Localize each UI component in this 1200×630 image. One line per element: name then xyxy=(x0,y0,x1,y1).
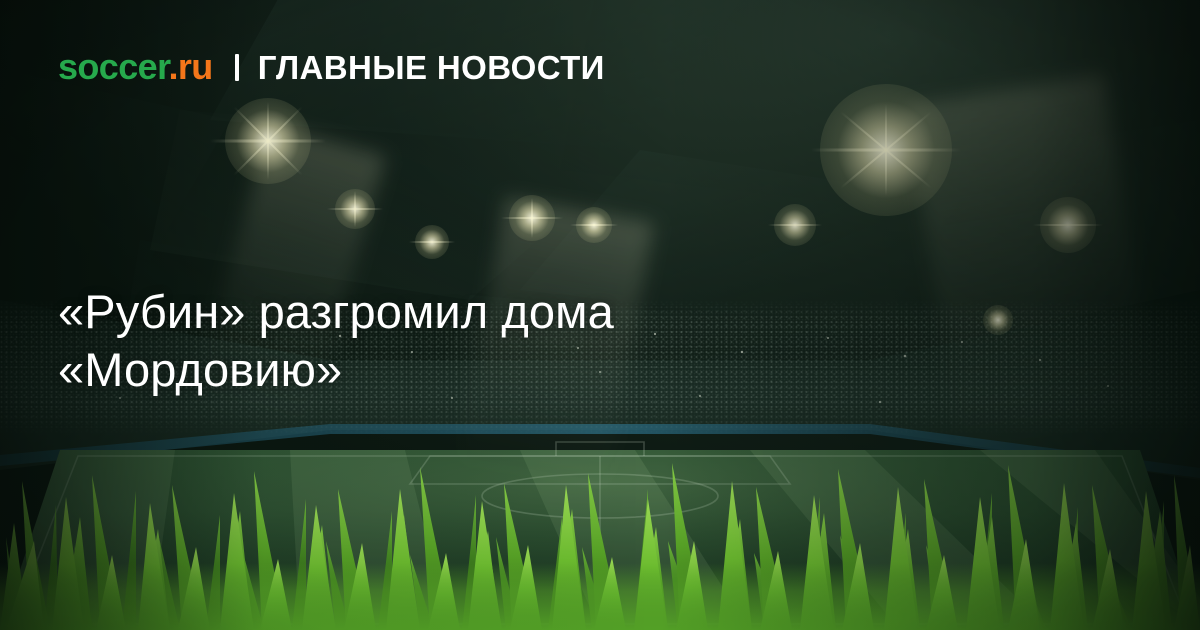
card-content: soccer.ru ГЛАВНЫЕ НОВОСТИ «Рубин» разгро… xyxy=(0,0,1200,630)
header-separator-icon xyxy=(235,54,239,81)
logo-brand-text: soccer xyxy=(58,46,169,87)
news-share-card: soccer.ru ГЛАВНЫЕ НОВОСТИ «Рубин» разгро… xyxy=(0,0,1200,630)
headline: «Рубин» разгромил дома «Мордовию» xyxy=(58,283,848,399)
soccer-ru-logo[interactable]: soccer.ru xyxy=(58,49,213,85)
logo-tld-text: .ru xyxy=(169,46,213,87)
card-header: soccer.ru ГЛАВНЫЕ НОВОСТИ xyxy=(58,49,605,85)
section-title: ГЛАВНЫЕ НОВОСТИ xyxy=(258,51,605,84)
